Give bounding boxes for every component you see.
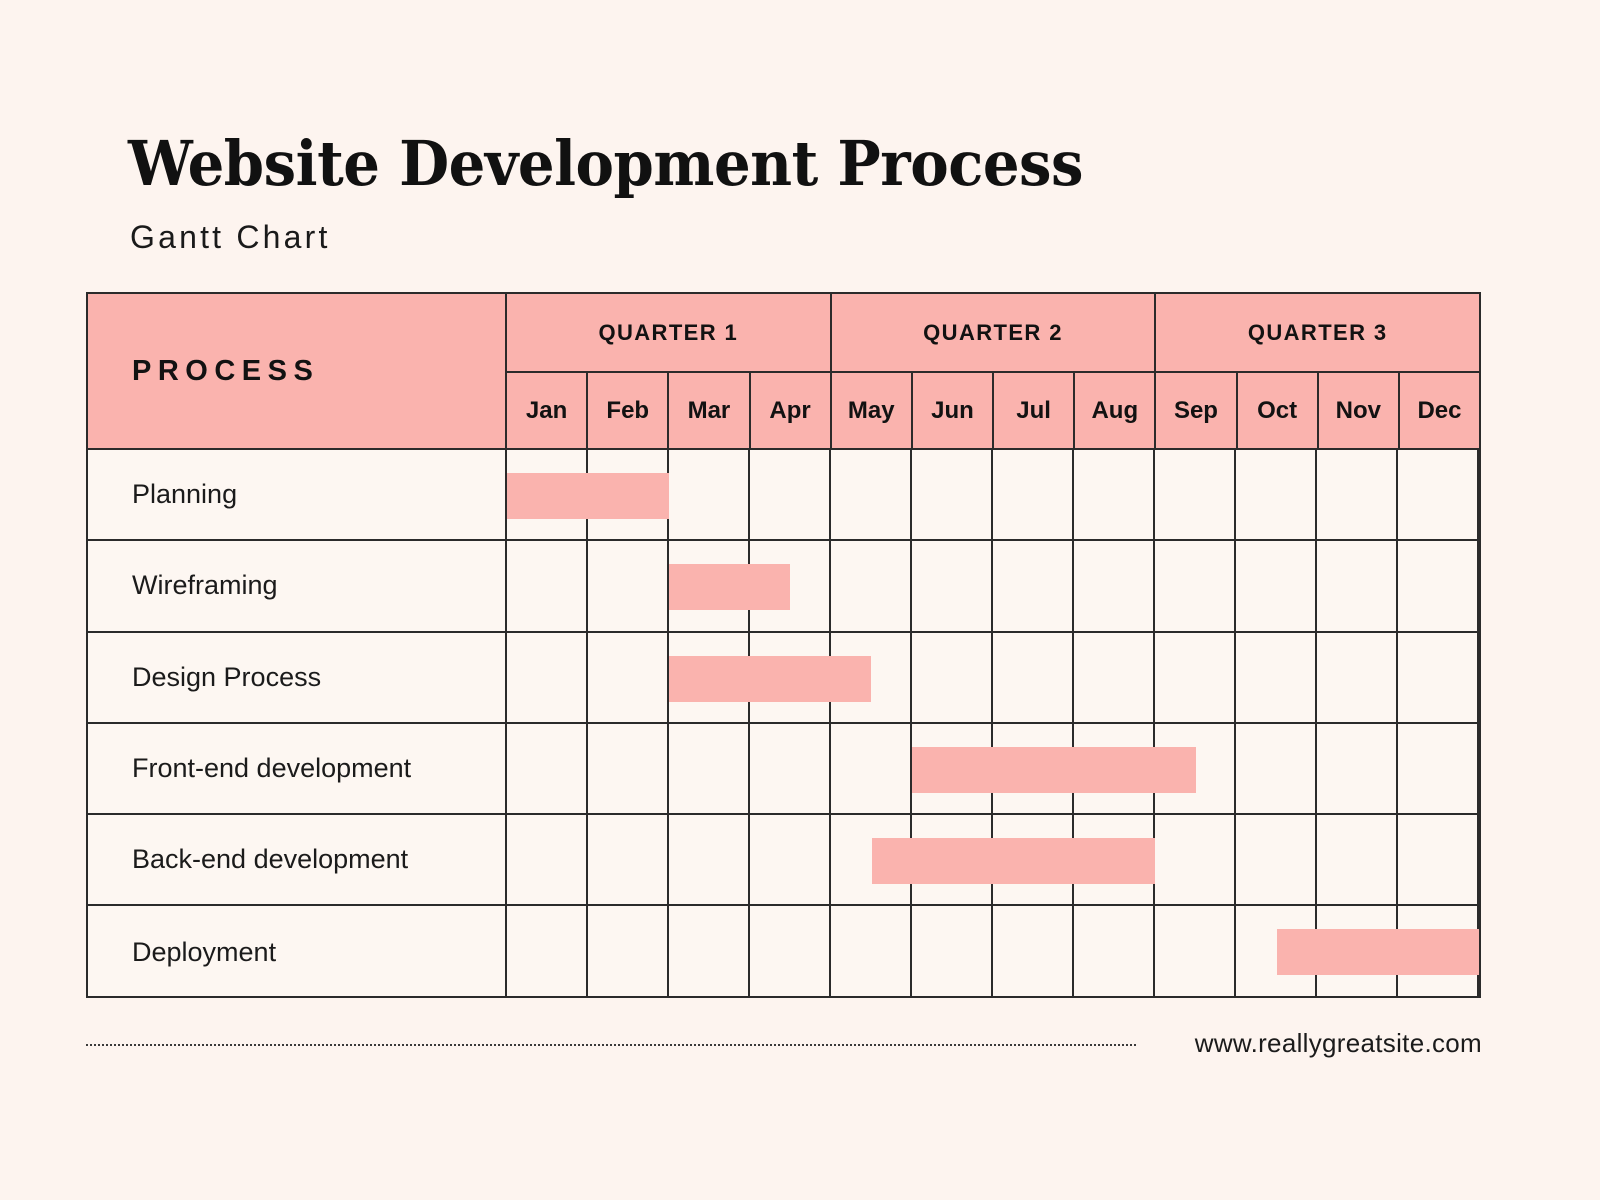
timeline-cell	[993, 633, 1074, 722]
timeline-cell	[1398, 541, 1479, 630]
timeline-track	[507, 724, 1479, 813]
month-header-cell: Dec	[1400, 373, 1479, 448]
timeline-cell	[588, 724, 669, 813]
page-subtitle: Gantt Chart	[130, 215, 331, 259]
month-header-cell: Apr	[751, 373, 832, 448]
month-header-cell: Oct	[1238, 373, 1319, 448]
timeline-cell	[1074, 450, 1155, 539]
timeline-track	[507, 633, 1479, 722]
month-header-cell: Nov	[1319, 373, 1400, 448]
timeline-cell	[1155, 906, 1236, 997]
task-name-label: Design Process	[88, 662, 321, 693]
timeline-cell	[669, 724, 750, 813]
table-row: Design Process	[88, 633, 1479, 724]
timeline-cell	[669, 906, 750, 997]
timeline-cell	[1317, 724, 1398, 813]
gantt-bar[interactable]	[669, 564, 791, 610]
timeline-cell	[750, 724, 831, 813]
task-name-cell: Back-end development	[88, 815, 507, 904]
table-row: Deployment	[88, 906, 1479, 997]
task-name-cell: Front-end development	[88, 724, 507, 813]
timeline-cell	[1155, 815, 1236, 904]
gantt-bar[interactable]	[872, 838, 1156, 884]
timeline-cell	[1317, 541, 1398, 630]
timeline-cell	[1236, 633, 1317, 722]
month-header-cell: Sep	[1156, 373, 1237, 448]
footer-website: www.reallygreatsite.com	[1195, 1028, 1482, 1059]
timeline-cell	[669, 450, 750, 539]
timeline-cell	[831, 450, 912, 539]
month-header-label: Feb	[606, 397, 649, 425]
month-header-label: Jun	[931, 397, 974, 425]
timeline-cell	[1317, 815, 1398, 904]
timeline-cell	[1317, 633, 1398, 722]
month-header-label: Dec	[1417, 397, 1461, 425]
timeline-cell	[831, 541, 912, 630]
timeline-track	[507, 906, 1479, 997]
timeline-cell	[507, 815, 588, 904]
timeline-cell	[507, 724, 588, 813]
quarter-header-label: QUARTER 2	[923, 320, 1063, 346]
timeline-cell	[1236, 450, 1317, 539]
timeline-cell	[588, 633, 669, 722]
quarter-header-label: QUARTER 1	[598, 320, 738, 346]
timeline-cell	[1236, 815, 1317, 904]
timeline-cell	[669, 815, 750, 904]
month-header-cell: Jan	[507, 373, 588, 448]
timeline-cell	[1398, 724, 1479, 813]
month-header-label: Apr	[769, 397, 810, 425]
gantt-bar[interactable]	[507, 473, 669, 519]
gantt-bar[interactable]	[669, 656, 872, 702]
table-body: PlanningWireframingDesign ProcessFront-e…	[88, 450, 1479, 998]
timeline-cell	[1074, 541, 1155, 630]
timeline-cell	[912, 541, 993, 630]
task-name-cell: Design Process	[88, 633, 507, 722]
timeline-cell	[1155, 541, 1236, 630]
timeline-cell	[750, 906, 831, 997]
timeline-cell	[912, 450, 993, 539]
timeline-cell	[750, 815, 831, 904]
timeline-cell	[993, 906, 1074, 997]
quarter-header-row: QUARTER 1QUARTER 2QUARTER 3	[507, 294, 1479, 373]
timeline-track	[507, 450, 1479, 539]
month-header-cell: Mar	[669, 373, 750, 448]
timeline-cell	[831, 724, 912, 813]
timeline-cell	[1155, 450, 1236, 539]
month-header-cell: Aug	[1075, 373, 1156, 448]
month-header-label: Aug	[1091, 397, 1138, 425]
timeline-cell	[1074, 633, 1155, 722]
task-name-label: Deployment	[88, 937, 276, 968]
gantt-chart-poster: Website Development Process Gantt Chart …	[0, 0, 1600, 1200]
timeline-cell	[588, 815, 669, 904]
task-name-label: Front-end development	[88, 753, 411, 784]
gantt-bar[interactable]	[912, 747, 1196, 793]
footer: www.reallygreatsite.com	[86, 1028, 1482, 1068]
task-name-cell: Deployment	[88, 906, 507, 997]
timeline-cell	[993, 450, 1074, 539]
table-row: Wireframing	[88, 541, 1479, 632]
task-name-label: Back-end development	[88, 844, 408, 875]
month-header-cell: Feb	[588, 373, 669, 448]
task-name-cell: Planning	[88, 450, 507, 539]
timeline-cell	[1317, 450, 1398, 539]
footer-divider	[86, 1044, 1136, 1046]
timeline-cell	[1155, 633, 1236, 722]
task-name-label: Planning	[88, 479, 237, 510]
month-header-cell: Jun	[913, 373, 994, 448]
month-header-label: May	[848, 397, 895, 425]
page-title: Website Development Process	[128, 128, 1083, 200]
month-header-label: Nov	[1336, 397, 1381, 425]
timeline-cell	[1236, 724, 1317, 813]
month-header-label: Oct	[1257, 397, 1297, 425]
task-name-label: Wireframing	[88, 570, 278, 601]
month-header-label: Sep	[1174, 397, 1218, 425]
timeline-cell	[507, 541, 588, 630]
table-row: Back-end development	[88, 815, 1479, 906]
timeline-cell	[750, 450, 831, 539]
table-header: PROCESS QUARTER 1QUARTER 2QUARTER 3 JanF…	[88, 294, 1479, 450]
timeline-cell	[1236, 541, 1317, 630]
month-header-cell: May	[832, 373, 913, 448]
quarter-header-cell: QUARTER 2	[832, 294, 1157, 371]
timeline-cell	[507, 633, 588, 722]
month-header-cell: Jul	[994, 373, 1075, 448]
month-header-label: Mar	[688, 397, 731, 425]
task-name-cell: Wireframing	[88, 541, 507, 630]
month-header-row: JanFebMarAprMayJunJulAugSepOctNovDec	[507, 373, 1479, 448]
table-row: Front-end development	[88, 724, 1479, 815]
quarter-header-cell: QUARTER 3	[1156, 294, 1479, 371]
month-header-label: Jan	[526, 397, 567, 425]
timeline-cell	[912, 633, 993, 722]
gantt-bar[interactable]	[1277, 929, 1480, 975]
timeline-cell	[507, 906, 588, 997]
timeline-cell	[588, 906, 669, 997]
table-row: Planning	[88, 450, 1479, 541]
gantt-table: PROCESS QUARTER 1QUARTER 2QUARTER 3 JanF…	[86, 292, 1481, 998]
timeline-track	[507, 815, 1479, 904]
timeline-cell	[912, 906, 993, 997]
timeline-cell	[1398, 633, 1479, 722]
timeline-cell	[1398, 450, 1479, 539]
quarter-header-cell: QUARTER 1	[507, 294, 832, 371]
timeline-cell	[993, 541, 1074, 630]
timeline-cell	[588, 541, 669, 630]
process-column-header-label: PROCESS	[88, 355, 319, 388]
quarter-header-label: QUARTER 3	[1248, 320, 1388, 346]
timeline-cell	[1398, 815, 1479, 904]
process-column-header-cell: PROCESS	[88, 294, 507, 448]
timeline-cell	[831, 906, 912, 997]
timeline-cell	[1074, 906, 1155, 997]
month-header-label: Jul	[1016, 397, 1051, 425]
timeline-track	[507, 541, 1479, 630]
